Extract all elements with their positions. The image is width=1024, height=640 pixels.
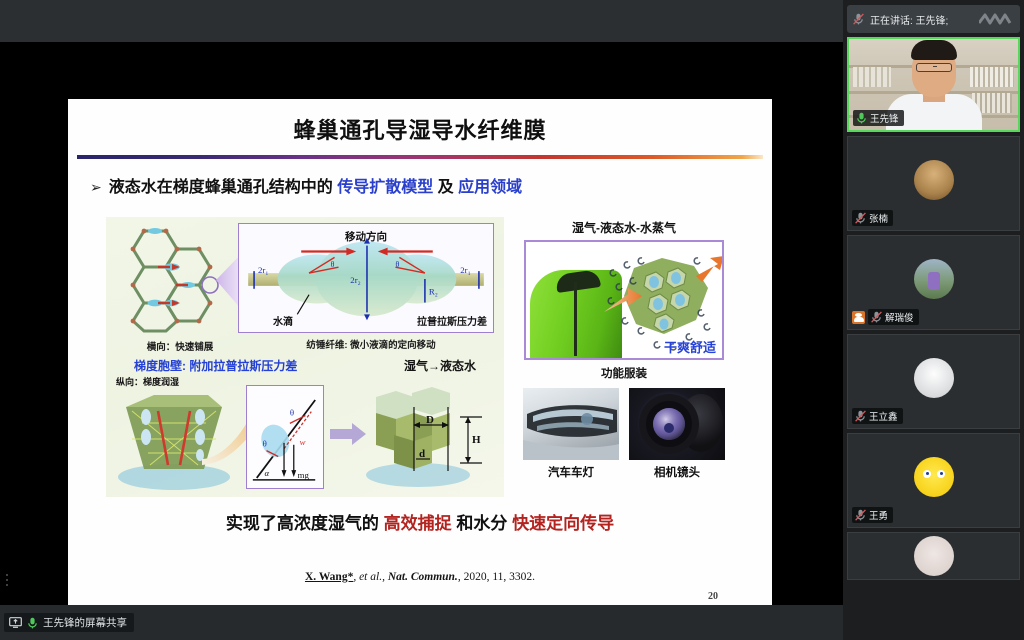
slide-conclusion: 实现了高浓度湿气的 高效捕捉 和水分 快速定向传导: [68, 509, 772, 534]
raise-hand-icon: [852, 311, 865, 324]
svg-text:mg: mg: [298, 470, 310, 480]
bullet-highlight-1: 传导扩散模型: [337, 179, 433, 196]
list-icon[interactable]: [6, 572, 28, 590]
mic-muted-icon: [855, 212, 866, 224]
apparel-panel: 干爽舒适: [524, 240, 724, 360]
participant-name-5: 王勇: [869, 508, 888, 522]
spindle-caption: 纺锤纤维: 微小液滴的定向移动: [246, 337, 496, 351]
avatar: [914, 160, 954, 200]
honeycomb-network-diagram: [114, 225, 232, 337]
force-balance-schematic: θ θ w mg α: [247, 386, 323, 488]
laplace-pressure-label: 拉普拉斯压力差: [417, 313, 487, 328]
participant-tile-4[interactable]: 王立鑫: [847, 334, 1020, 429]
screen-share-indicator[interactable]: 王先锋的屏幕共享: [4, 613, 134, 632]
avatar: [914, 457, 954, 497]
dry-comfort-badge: 干爽舒适: [664, 337, 716, 356]
svg-text:2r₁: 2r₁: [460, 265, 470, 275]
shared-screen-stage: 蜂巢通孔导湿导水纤维膜 ➢ 液态水在梯度蜂巢通孔结构中的 传导扩散模型 及 应用…: [0, 42, 843, 605]
participant-name-badge-2: 张楠: [852, 210, 893, 226]
svg-text:2r₂: 2r₂: [350, 275, 360, 285]
force-balance-inset: θ θ w mg α: [246, 385, 324, 489]
jacket-zipper: [574, 282, 577, 356]
participant-name-2: 张楠: [869, 211, 888, 225]
gradient-sweep: [202, 413, 250, 467]
lens-caption: 相机镜头: [629, 464, 725, 480]
svg-text:H: H: [472, 434, 481, 446]
slide-bullet: ➢ 液态水在梯度蜂巢通孔结构中的 传导扩散模型 及 应用领域: [90, 173, 772, 197]
svg-text:α: α: [265, 468, 270, 478]
avatar: [914, 358, 954, 398]
conclusion-seg1: 实现了高浓度湿气的: [226, 514, 379, 533]
participant-name-badge-5: 王勇: [852, 507, 893, 523]
honeycomb-3d-diagram: D d H: [356, 379, 496, 491]
slide-citation: X. Wang*, et al., Nat. Commun., 2020, 11…: [68, 571, 772, 583]
bullet-text-part2: 及: [438, 179, 454, 196]
participants-panel: 正在讲话: 王先锋; 王先锋: [843, 0, 1024, 640]
participant-name-badge-3: 解瑞俊: [852, 309, 919, 325]
taskbar: 王先锋的屏幕共享: [0, 605, 843, 640]
vertical-caption: 纵向：梯度润湿: [116, 375, 179, 388]
participant-tile-1[interactable]: 王先锋: [847, 37, 1020, 132]
zoom-meeting-window: 蜂巢通孔导湿导水纤维膜 ➢ 液态水在梯度蜂巢通孔结构中的 传导扩散模型 及 应用…: [0, 0, 1024, 640]
car-headlamp-photo: [523, 388, 619, 460]
conclusion-seg3: 和水分: [456, 514, 507, 533]
avatar: [914, 259, 954, 299]
svg-text:w: w: [300, 437, 306, 447]
mechanism-figure: 横向：快速铺展 移动方向: [106, 217, 504, 497]
top-strip: [0, 0, 843, 42]
svg-text:θ: θ: [331, 260, 335, 269]
svg-text:2r₁: 2r₁: [258, 265, 268, 275]
svg-text:R₂: R₂: [429, 287, 438, 297]
participant-tile-2[interactable]: 张楠: [847, 136, 1020, 231]
participant-name-3: 解瑞俊: [885, 310, 914, 324]
figure-row: 横向：快速铺展 移动方向: [106, 217, 734, 497]
bullet-highlight-2: 应用领域: [458, 179, 522, 196]
avatar: [914, 536, 954, 576]
svg-text:D: D: [426, 414, 434, 426]
droplet-label: 水滴: [273, 313, 293, 328]
slide-page-number: 20: [708, 591, 718, 602]
slide-title: 蜂巢通孔导湿导水纤维膜: [68, 113, 772, 145]
share-label: 王先锋的屏幕共享: [43, 615, 127, 630]
svg-text:θ: θ: [290, 408, 294, 418]
presentation-slide: 蜂巢通孔导湿导水纤维膜 ➢ 液态水在梯度蜂巢通孔结构中的 传导扩散模型 及 应用…: [68, 99, 772, 624]
humid-to-liquid-title: 湿气→液态水: [404, 357, 476, 374]
application-photo-row: 汽车车灯: [514, 388, 734, 480]
headlamp-caption: 汽车车灯: [523, 464, 619, 480]
citation-etal: , et al.,: [353, 571, 388, 583]
gradient-wall-title: 梯度胞壁: 附加拉普拉斯压力差: [134, 357, 297, 374]
honeycomb-caption: 横向：快速铺展: [110, 339, 250, 353]
photo-cell-lens: 相机镜头: [629, 388, 725, 480]
conclusion-seg2: 高效捕捉: [384, 514, 452, 533]
participant-tile-6[interactable]: [847, 532, 1020, 580]
active-speaker-label: 正在讲话: 王先锋;: [870, 12, 948, 27]
mic-active-icon: [27, 617, 38, 629]
mic-muted-icon: [855, 410, 866, 422]
droplet-inset-panel: 移动方向: [238, 223, 494, 333]
screen-share-icon: [9, 617, 22, 628]
jacket-collar: [555, 269, 601, 293]
audio-waveform-icon: [979, 12, 1013, 26]
citation-journal: Nat. Commun.: [388, 571, 458, 583]
camera-lens-photo: [629, 388, 725, 460]
active-speaker-bar[interactable]: 正在讲话: 王先锋;: [847, 5, 1020, 33]
apparel-title: 湿气-液态水-水蒸气: [514, 217, 734, 236]
svg-text:θ: θ: [263, 439, 267, 449]
apparel-caption: 功能服装: [514, 365, 734, 381]
svg-text:θ: θ: [395, 260, 399, 269]
citation-author: X. Wang*: [305, 571, 353, 583]
participant-tile-3[interactable]: 解瑞俊: [847, 235, 1020, 330]
photo-cell-headlamp: 汽车车灯: [523, 388, 619, 480]
svg-text:d: d: [419, 448, 425, 460]
participant-name-badge-4: 王立鑫: [852, 408, 903, 424]
participant-name-1: 王先锋: [870, 111, 899, 125]
mic-active-icon: [856, 112, 867, 124]
participant-name-4: 王立鑫: [869, 409, 898, 423]
application-figure: 湿气-液态水-水蒸气: [514, 217, 734, 497]
bullet-arrow-icon: ➢: [90, 179, 102, 196]
conclusion-seg4: 快速定向传导: [512, 514, 614, 533]
title-gradient-rule: [77, 155, 763, 159]
participant-name-badge-1: 王先锋: [853, 110, 904, 126]
mic-muted-icon: [871, 311, 882, 323]
bullet-text-part1: 液态水在梯度蜂巢通孔结构中的: [109, 179, 333, 196]
citation-rest: , 2020, 11, 3302.: [458, 571, 535, 583]
mic-muted-icon: [855, 509, 866, 521]
mic-muted-icon: [853, 13, 864, 25]
participant-tile-5[interactable]: 王勇: [847, 433, 1020, 528]
